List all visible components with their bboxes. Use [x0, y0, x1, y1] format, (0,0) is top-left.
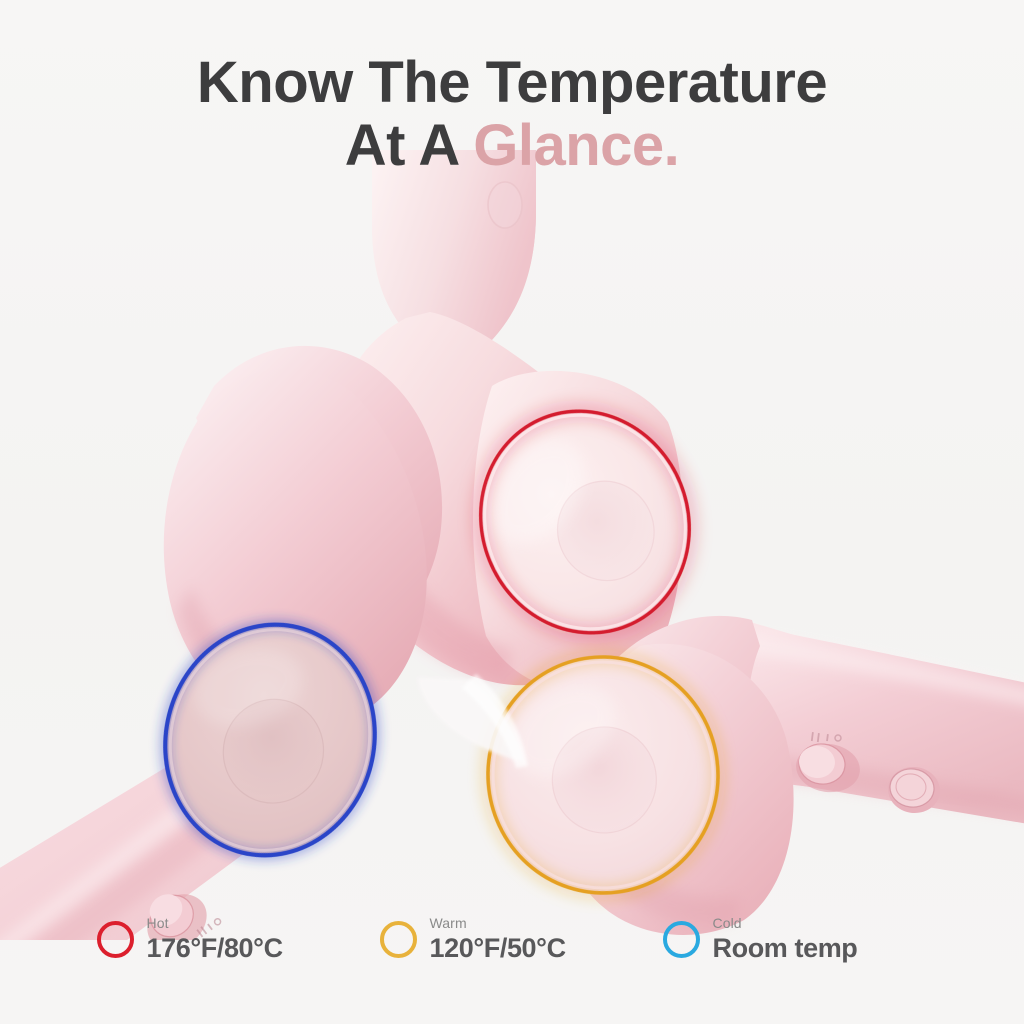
headline-line-2: At A Glance.	[0, 115, 1024, 178]
headline-line-1: Know The Temperature	[0, 52, 1024, 115]
legend-value-cold: Room temp	[713, 935, 858, 962]
legend-item-hot: Hot 176°F/80°C	[97, 916, 380, 962]
ring-icon-warm	[380, 921, 417, 958]
product-illustration	[0, 150, 1024, 940]
product-marketing-image: Know The Temperature At A Glance.	[0, 0, 1024, 1024]
temperature-legend: Hot 176°F/80°C Warm 120°F/50°C Cold Room…	[0, 916, 1024, 988]
legend-label-warm: Warm	[430, 916, 566, 930]
legend-text-cold: Cold Room temp	[713, 916, 858, 962]
legend-label-cold: Cold	[713, 916, 858, 930]
legend-text-warm: Warm 120°F/50°C	[430, 916, 566, 962]
page-title: Know The Temperature At A Glance.	[0, 52, 1024, 177]
ring-icon-hot	[97, 921, 134, 958]
legend-value-hot: 176°F/80°C	[147, 935, 283, 962]
headline-line-2-prefix: At A	[345, 113, 474, 178]
cold-unit	[0, 346, 442, 940]
legend-item-warm: Warm 120°F/50°C	[380, 916, 663, 962]
ring-icon-cold	[663, 921, 700, 958]
headline-accent-word: Glance.	[473, 113, 679, 178]
warm-unit	[480, 616, 1024, 935]
legend-value-warm: 120°F/50°C	[430, 935, 566, 962]
legend-label-hot: Hot	[147, 916, 283, 930]
legend-text-hot: Hot 176°F/80°C	[147, 916, 283, 962]
legend-item-cold: Cold Room temp	[663, 916, 946, 962]
